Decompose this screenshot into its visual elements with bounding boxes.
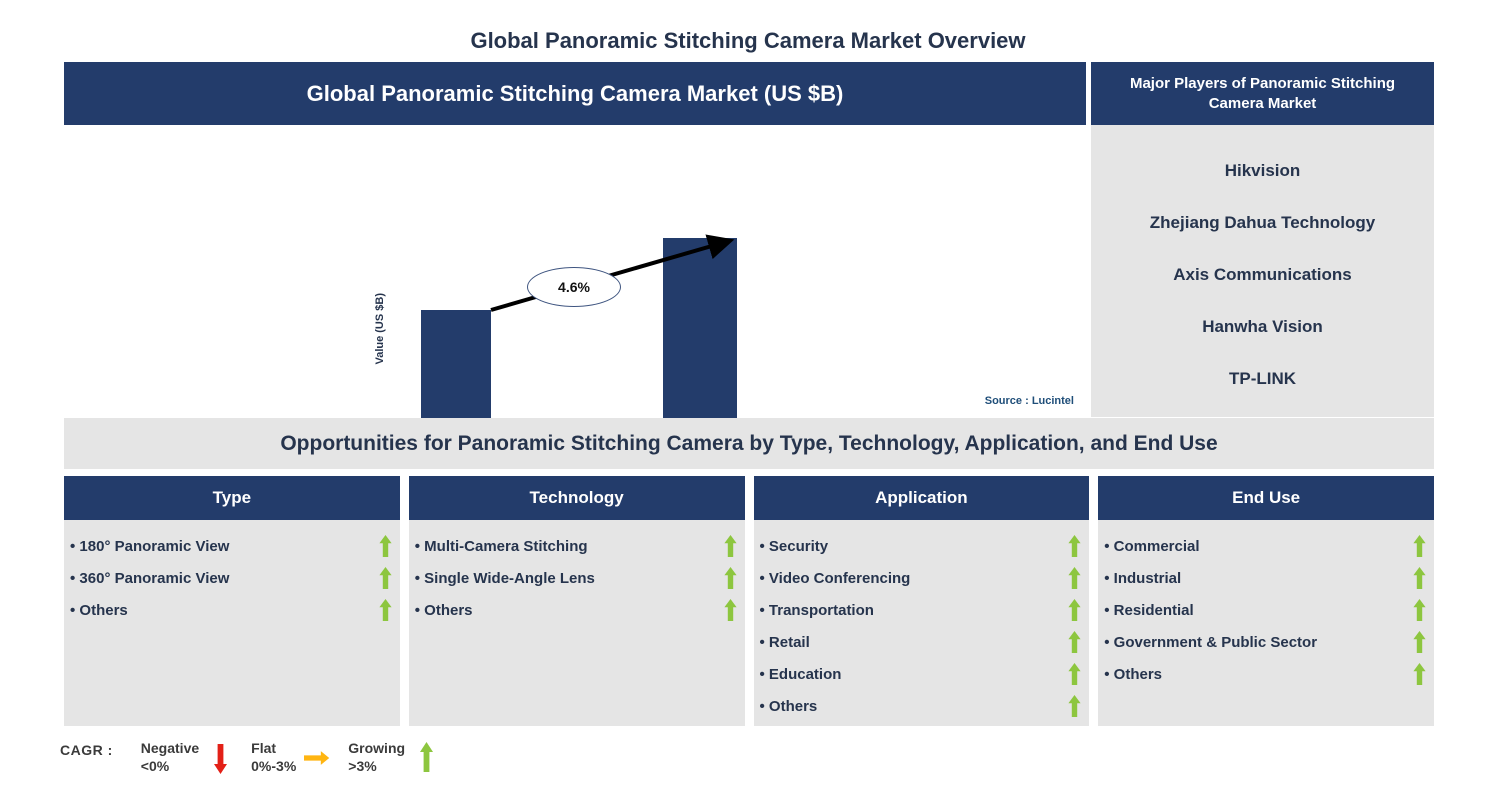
column-item-list: • Commercial • Industrial • Residential … <box>1098 520 1434 726</box>
list-item: Zhejiang Dahua Technology <box>1091 197 1434 249</box>
arrow-up-icon <box>1413 599 1426 621</box>
list-item: Hanwha Vision <box>1091 301 1434 353</box>
list-item: TP-LINK <box>1091 353 1434 405</box>
cagr-legend: CAGR : Negative <0% Flat 0%-3% Growing >… <box>60 740 457 785</box>
legend-flat-text: Flat 0%-3% <box>251 740 296 775</box>
list-item: Hikvision <box>1091 145 1434 197</box>
opportunity-columns: Type • 180° Panoramic View • 360° Panora… <box>64 476 1434 726</box>
cagr-value-bubble: 4.6% <box>527 267 621 307</box>
arrow-up-icon <box>724 599 737 621</box>
list-item-label: • 180° Panoramic View <box>70 538 229 555</box>
list-item: • Transportation <box>760 594 1082 626</box>
chart-source-note: Source : Lucintel <box>64 395 1074 407</box>
list-item-label: • Others <box>70 602 128 619</box>
list-item: • Others <box>760 690 1082 722</box>
list-item: • Security <box>760 530 1082 562</box>
list-item: • Retail <box>760 626 1082 658</box>
players-panel-header: Major Players of Panoramic Stitching Cam… <box>1091 62 1434 125</box>
legend-negative-text: Negative <0% <box>141 740 199 775</box>
list-item-label: • Single Wide-Angle Lens <box>415 570 595 587</box>
legend-flat-name: Flat <box>251 740 296 758</box>
chart-panel-header: Global Panoramic Stitching Camera Market… <box>64 62 1086 125</box>
bar-2031 <box>663 238 737 421</box>
arrow-up-icon <box>413 740 439 776</box>
arrow-up-icon <box>1413 663 1426 685</box>
arrow-up-icon <box>1068 663 1081 685</box>
arrow-down-icon <box>207 740 233 776</box>
list-item-label: • Government & Public Sector <box>1104 634 1317 651</box>
list-item: • Government & Public Sector <box>1104 626 1426 658</box>
arrow-up-icon <box>379 599 392 621</box>
arrow-up-icon <box>1068 567 1081 589</box>
arrow-up-icon <box>1068 599 1081 621</box>
arrow-up-icon <box>1068 695 1081 717</box>
list-item: Axis Communications <box>1091 249 1434 301</box>
list-item-label: • Security <box>760 538 829 555</box>
column-header: End Use <box>1098 476 1434 520</box>
list-item-label: • Video Conferencing <box>760 570 911 587</box>
list-item-label: • Multi-Camera Stitching <box>415 538 588 555</box>
arrow-up-icon <box>379 535 392 557</box>
list-item: • Multi-Camera Stitching <box>415 530 737 562</box>
players-list: Hikvision Zhejiang Dahua Technology Axis… <box>1091 125 1434 417</box>
column-item-list: • Multi-Camera Stitching • Single Wide-A… <box>409 520 745 726</box>
list-item-label: • 360° Panoramic View <box>70 570 229 587</box>
list-item: • Industrial <box>1104 562 1426 594</box>
arrow-up-icon <box>379 567 392 589</box>
list-item: • Single Wide-Angle Lens <box>415 562 737 594</box>
column-application: Application • Security • Video Conferenc… <box>754 476 1090 726</box>
legend-item-flat: Flat 0%-3% <box>251 740 338 776</box>
legend-growing-range: >3% <box>348 758 405 776</box>
arrow-up-icon <box>1068 535 1081 557</box>
major-players-panel: Major Players of Panoramic Stitching Cam… <box>1091 62 1434 417</box>
legend-negative-range: <0% <box>141 758 199 776</box>
column-end-use: End Use • Commercial • Industrial • Resi… <box>1098 476 1434 726</box>
arrow-up-icon <box>724 567 737 589</box>
list-item: • Education <box>760 658 1082 690</box>
list-item-label: • Residential <box>1104 602 1193 619</box>
arrow-up-icon <box>1413 567 1426 589</box>
legend-growing-text: Growing >3% <box>348 740 405 775</box>
arrow-up-icon <box>724 535 737 557</box>
list-item-label: • Transportation <box>760 602 874 619</box>
column-header: Application <box>754 476 1090 520</box>
list-item-label: • Others <box>1104 666 1162 683</box>
list-item: • Commercial <box>1104 530 1426 562</box>
column-item-list: • 180° Panoramic View • 360° Panoramic V… <box>64 520 400 726</box>
list-item: • Video Conferencing <box>760 562 1082 594</box>
cagr-legend-label: CAGR : <box>60 740 113 758</box>
arrow-up-icon <box>1413 535 1426 557</box>
legend-item-growing: Growing >3% <box>348 740 447 776</box>
list-item-label: • Education <box>760 666 842 683</box>
list-item: • Others <box>70 594 392 626</box>
list-item: • Others <box>415 594 737 626</box>
list-item-label: • Others <box>415 602 473 619</box>
chart-y-axis-label: Value (US $B) <box>374 293 390 365</box>
column-type: Type • 180° Panoramic View • 360° Panora… <box>64 476 400 726</box>
page-title: Global Panoramic Stitching Camera Market… <box>0 28 1496 54</box>
legend-negative-name: Negative <box>141 740 199 758</box>
arrow-right-icon <box>304 740 330 776</box>
list-item-label: • Retail <box>760 634 810 651</box>
column-item-list: • Security • Video Conferencing • Transp… <box>754 520 1090 726</box>
arrow-up-icon <box>1068 631 1081 653</box>
list-item: • 180° Panoramic View <box>70 530 392 562</box>
list-item: • 360° Panoramic View <box>70 562 392 594</box>
list-item-label: • Industrial <box>1104 570 1181 587</box>
column-header: Technology <box>409 476 745 520</box>
column-header: Type <box>64 476 400 520</box>
list-item-label: • Others <box>760 698 818 715</box>
opportunities-band-title: Opportunities for Panoramic Stitching Ca… <box>64 418 1434 469</box>
legend-growing-name: Growing <box>348 740 405 758</box>
market-chart-panel: Global Panoramic Stitching Camera Market… <box>64 62 1086 417</box>
column-technology: Technology • Multi-Camera Stitching • Si… <box>409 476 745 726</box>
chart-plot-area: Value (US $B) 2025 2031 4.6% Source : Lu… <box>64 125 1086 417</box>
list-item-label: • Commercial <box>1104 538 1199 555</box>
legend-item-negative: Negative <0% <box>141 740 241 776</box>
arrow-up-icon <box>1413 631 1426 653</box>
legend-flat-range: 0%-3% <box>251 758 296 776</box>
list-item: • Others <box>1104 658 1426 690</box>
list-item: • Residential <box>1104 594 1426 626</box>
